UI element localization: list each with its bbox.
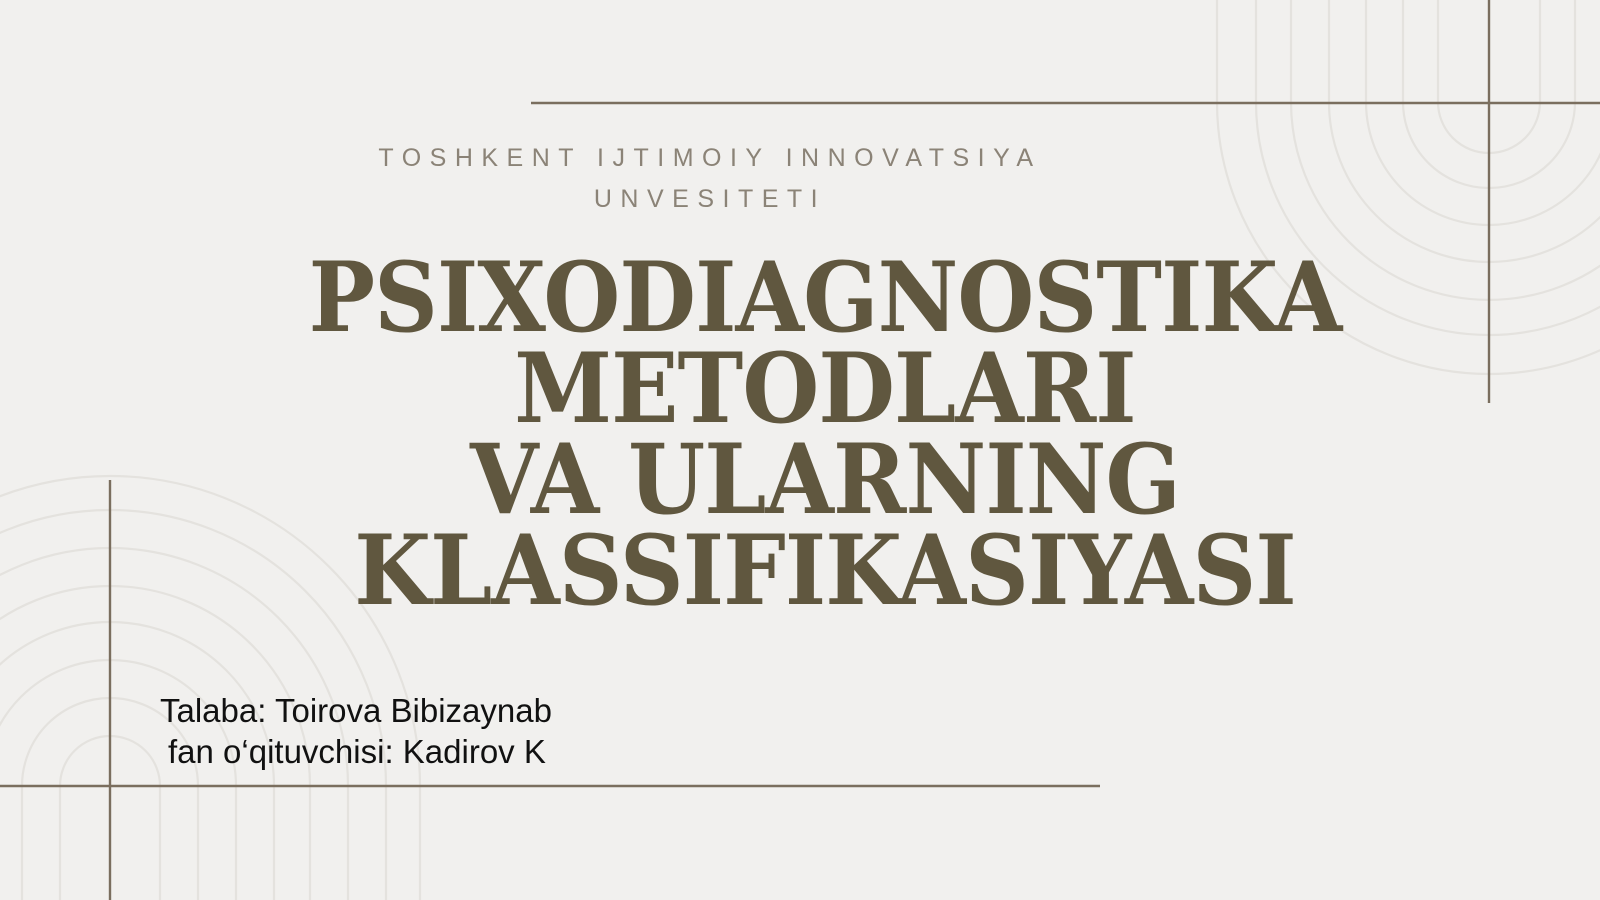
byline-teacher: fan o‘qituvchisi: Kadirov K xyxy=(160,731,552,772)
presentation-slide: TOSHKENT IJTIMOIY INNOVATSIYA UNVESITETI… xyxy=(0,0,1600,900)
slide-content: TOSHKENT IJTIMOIY INNOVATSIYA UNVESITETI… xyxy=(0,0,1600,900)
title-line-1: PSIXODIAGNOSTIKA xyxy=(232,252,1419,343)
slide-title: PSIXODIAGNOSTIKA METODLARI VA ULARNING K… xyxy=(180,252,1470,616)
byline-student: Talaba: Toirova Bibizaynab xyxy=(160,692,552,729)
title-line-2: METODLARI xyxy=(232,343,1419,434)
byline-block: Talaba: Toirova Bibizaynab fan o‘qituvch… xyxy=(160,690,552,772)
title-line-3: VA ULARNING xyxy=(232,434,1419,525)
institution-name: TOSHKENT IJTIMOIY INNOVATSIYA UNVESITETI xyxy=(260,138,1160,220)
title-line-4: KLASSIFIKASIYASI xyxy=(232,525,1419,616)
